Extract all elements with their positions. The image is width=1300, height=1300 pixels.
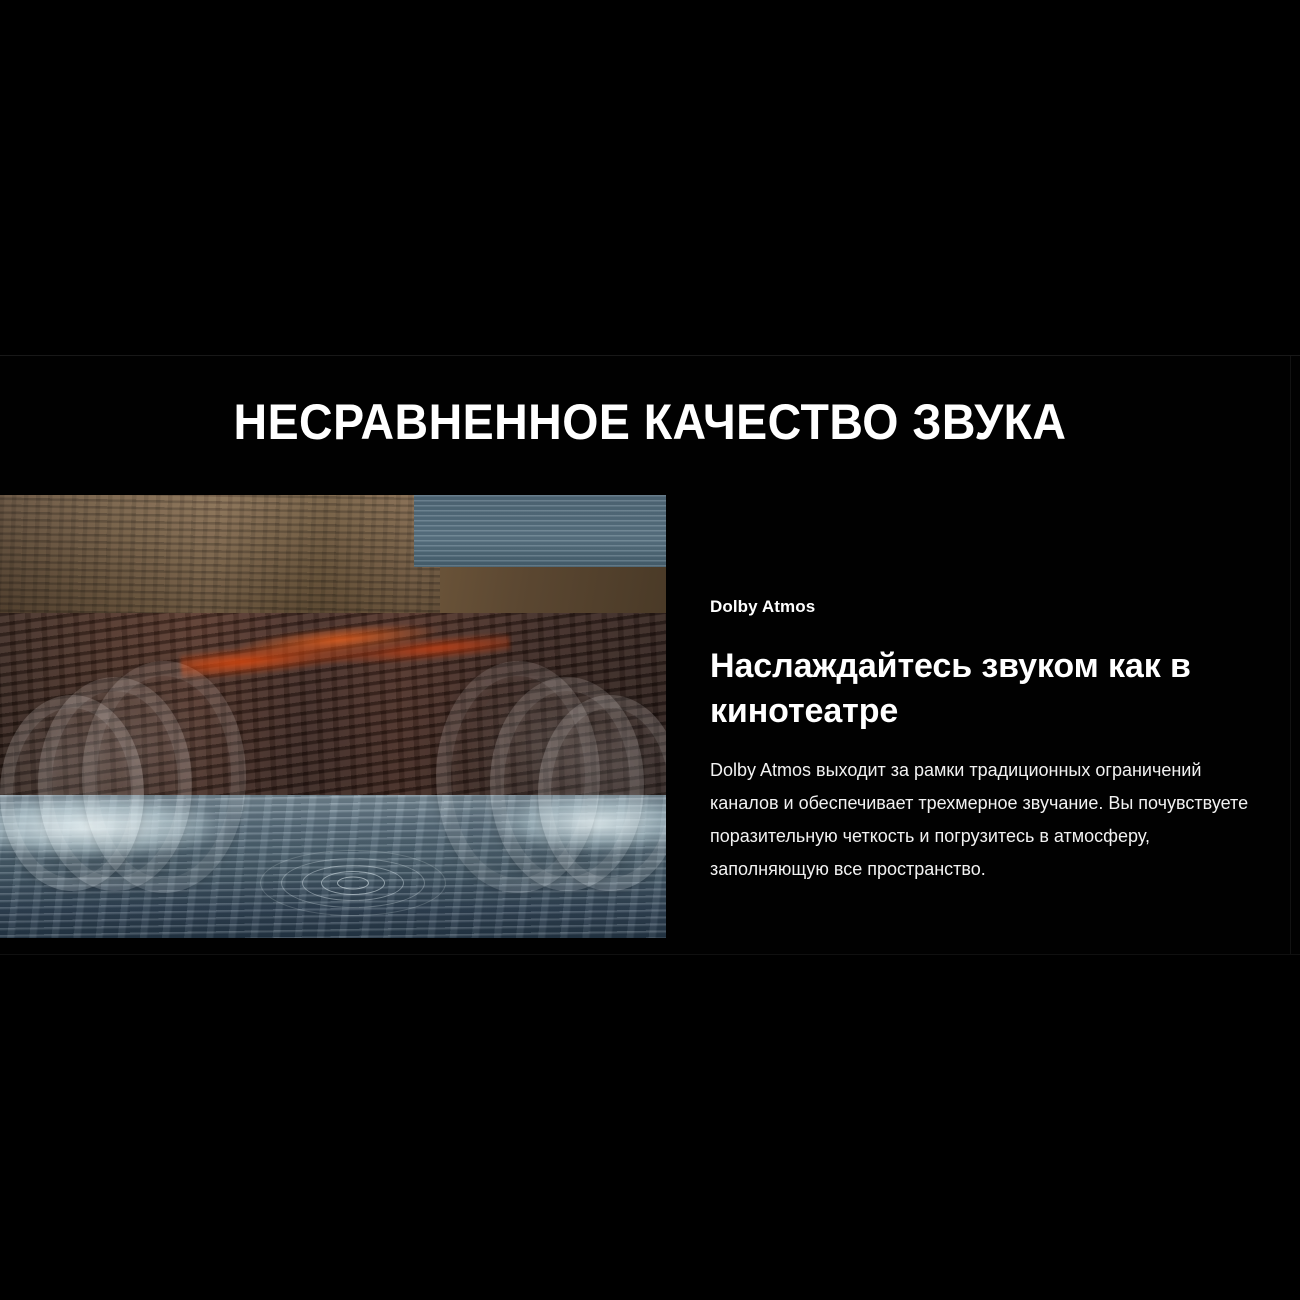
feature-image: DolbyAtmos <box>0 495 666 938</box>
feature-headline: Наслаждайтесь звуком как в кинотеатре <box>710 644 1250 734</box>
distant-sea-layer <box>414 495 666 567</box>
page-root: НЕСРАВНЕННОЕ КАЧЕСТВО ЗВУКА <box>0 0 1300 1300</box>
section-right-edge <box>1290 356 1291 954</box>
page-title: НЕСРАВНЕННОЕ КАЧЕСТВО ЗВУКА <box>46 392 1255 452</box>
sea-foam-left <box>0 787 270 867</box>
sea-foam-right <box>470 791 666 863</box>
feature-copy-block: Dolby Atmos Наслаждайтесь звуком как в к… <box>710 596 1272 886</box>
feature-paragraph: Dolby Atmos выходит за рамки традиционны… <box>710 754 1272 886</box>
feature-eyebrow: Dolby Atmos <box>710 596 1272 618</box>
